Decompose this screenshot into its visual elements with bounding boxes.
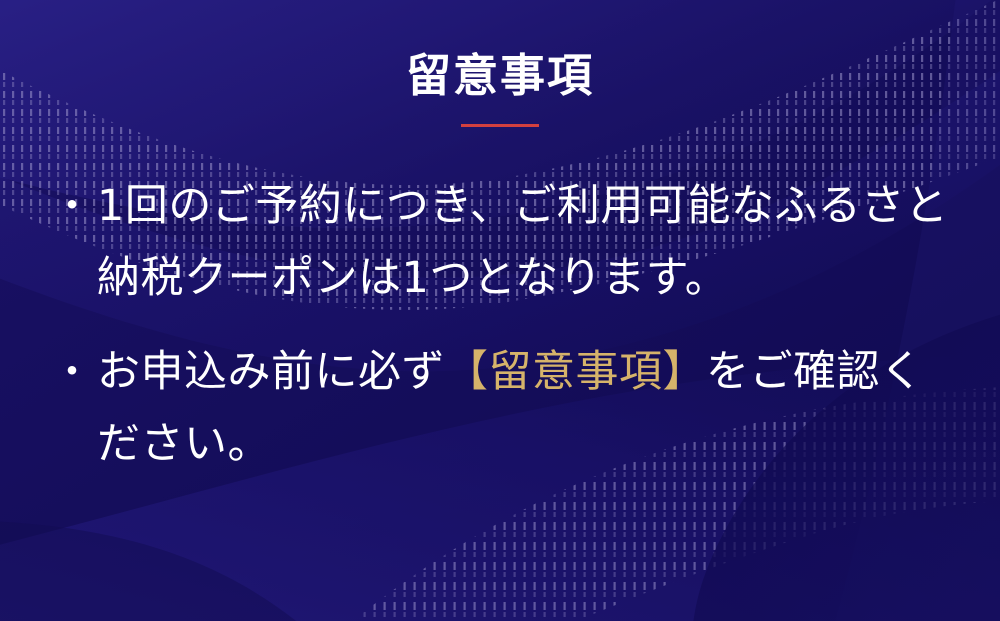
- title-divider: [461, 124, 539, 127]
- list-item-text: お申込み前に必ず【留意事項】をご確認ください。: [97, 336, 952, 480]
- page-title: 留意事項: [0, 52, 1000, 99]
- bullet-icon: ・: [52, 170, 97, 242]
- bullet-icon: ・: [52, 336, 97, 408]
- notes-list: ・ 1回のご予約につき、ご利用可能なふるさと納税クーポンは1つとなります。 ・ …: [52, 170, 952, 502]
- notice-slide: 留意事項 ・ 1回のご予約につき、ご利用可能なふるさと納税クーポンは1つとなりま…: [0, 0, 1000, 621]
- highlighted-term: 【留意事項】: [445, 347, 706, 397]
- list-item: ・ 1回のご予約につき、ご利用可能なふるさと納税クーポンは1つとなります。: [52, 170, 952, 314]
- text-segment: お申込み前に必ず: [97, 347, 445, 397]
- slide-content: 留意事項 ・ 1回のご予約につき、ご利用可能なふるさと納税クーポンは1つとなりま…: [0, 0, 1000, 621]
- list-item-text: 1回のご予約につき、ご利用可能なふるさと納税クーポンは1つとなります。: [97, 170, 952, 314]
- text-segment: 1回のご予約につき、ご利用可能なふるさと納税クーポンは1つとなります。: [97, 181, 948, 303]
- list-item: ・ お申込み前に必ず【留意事項】をご確認ください。: [52, 336, 952, 480]
- title-block: 留意事項: [0, 52, 1000, 127]
